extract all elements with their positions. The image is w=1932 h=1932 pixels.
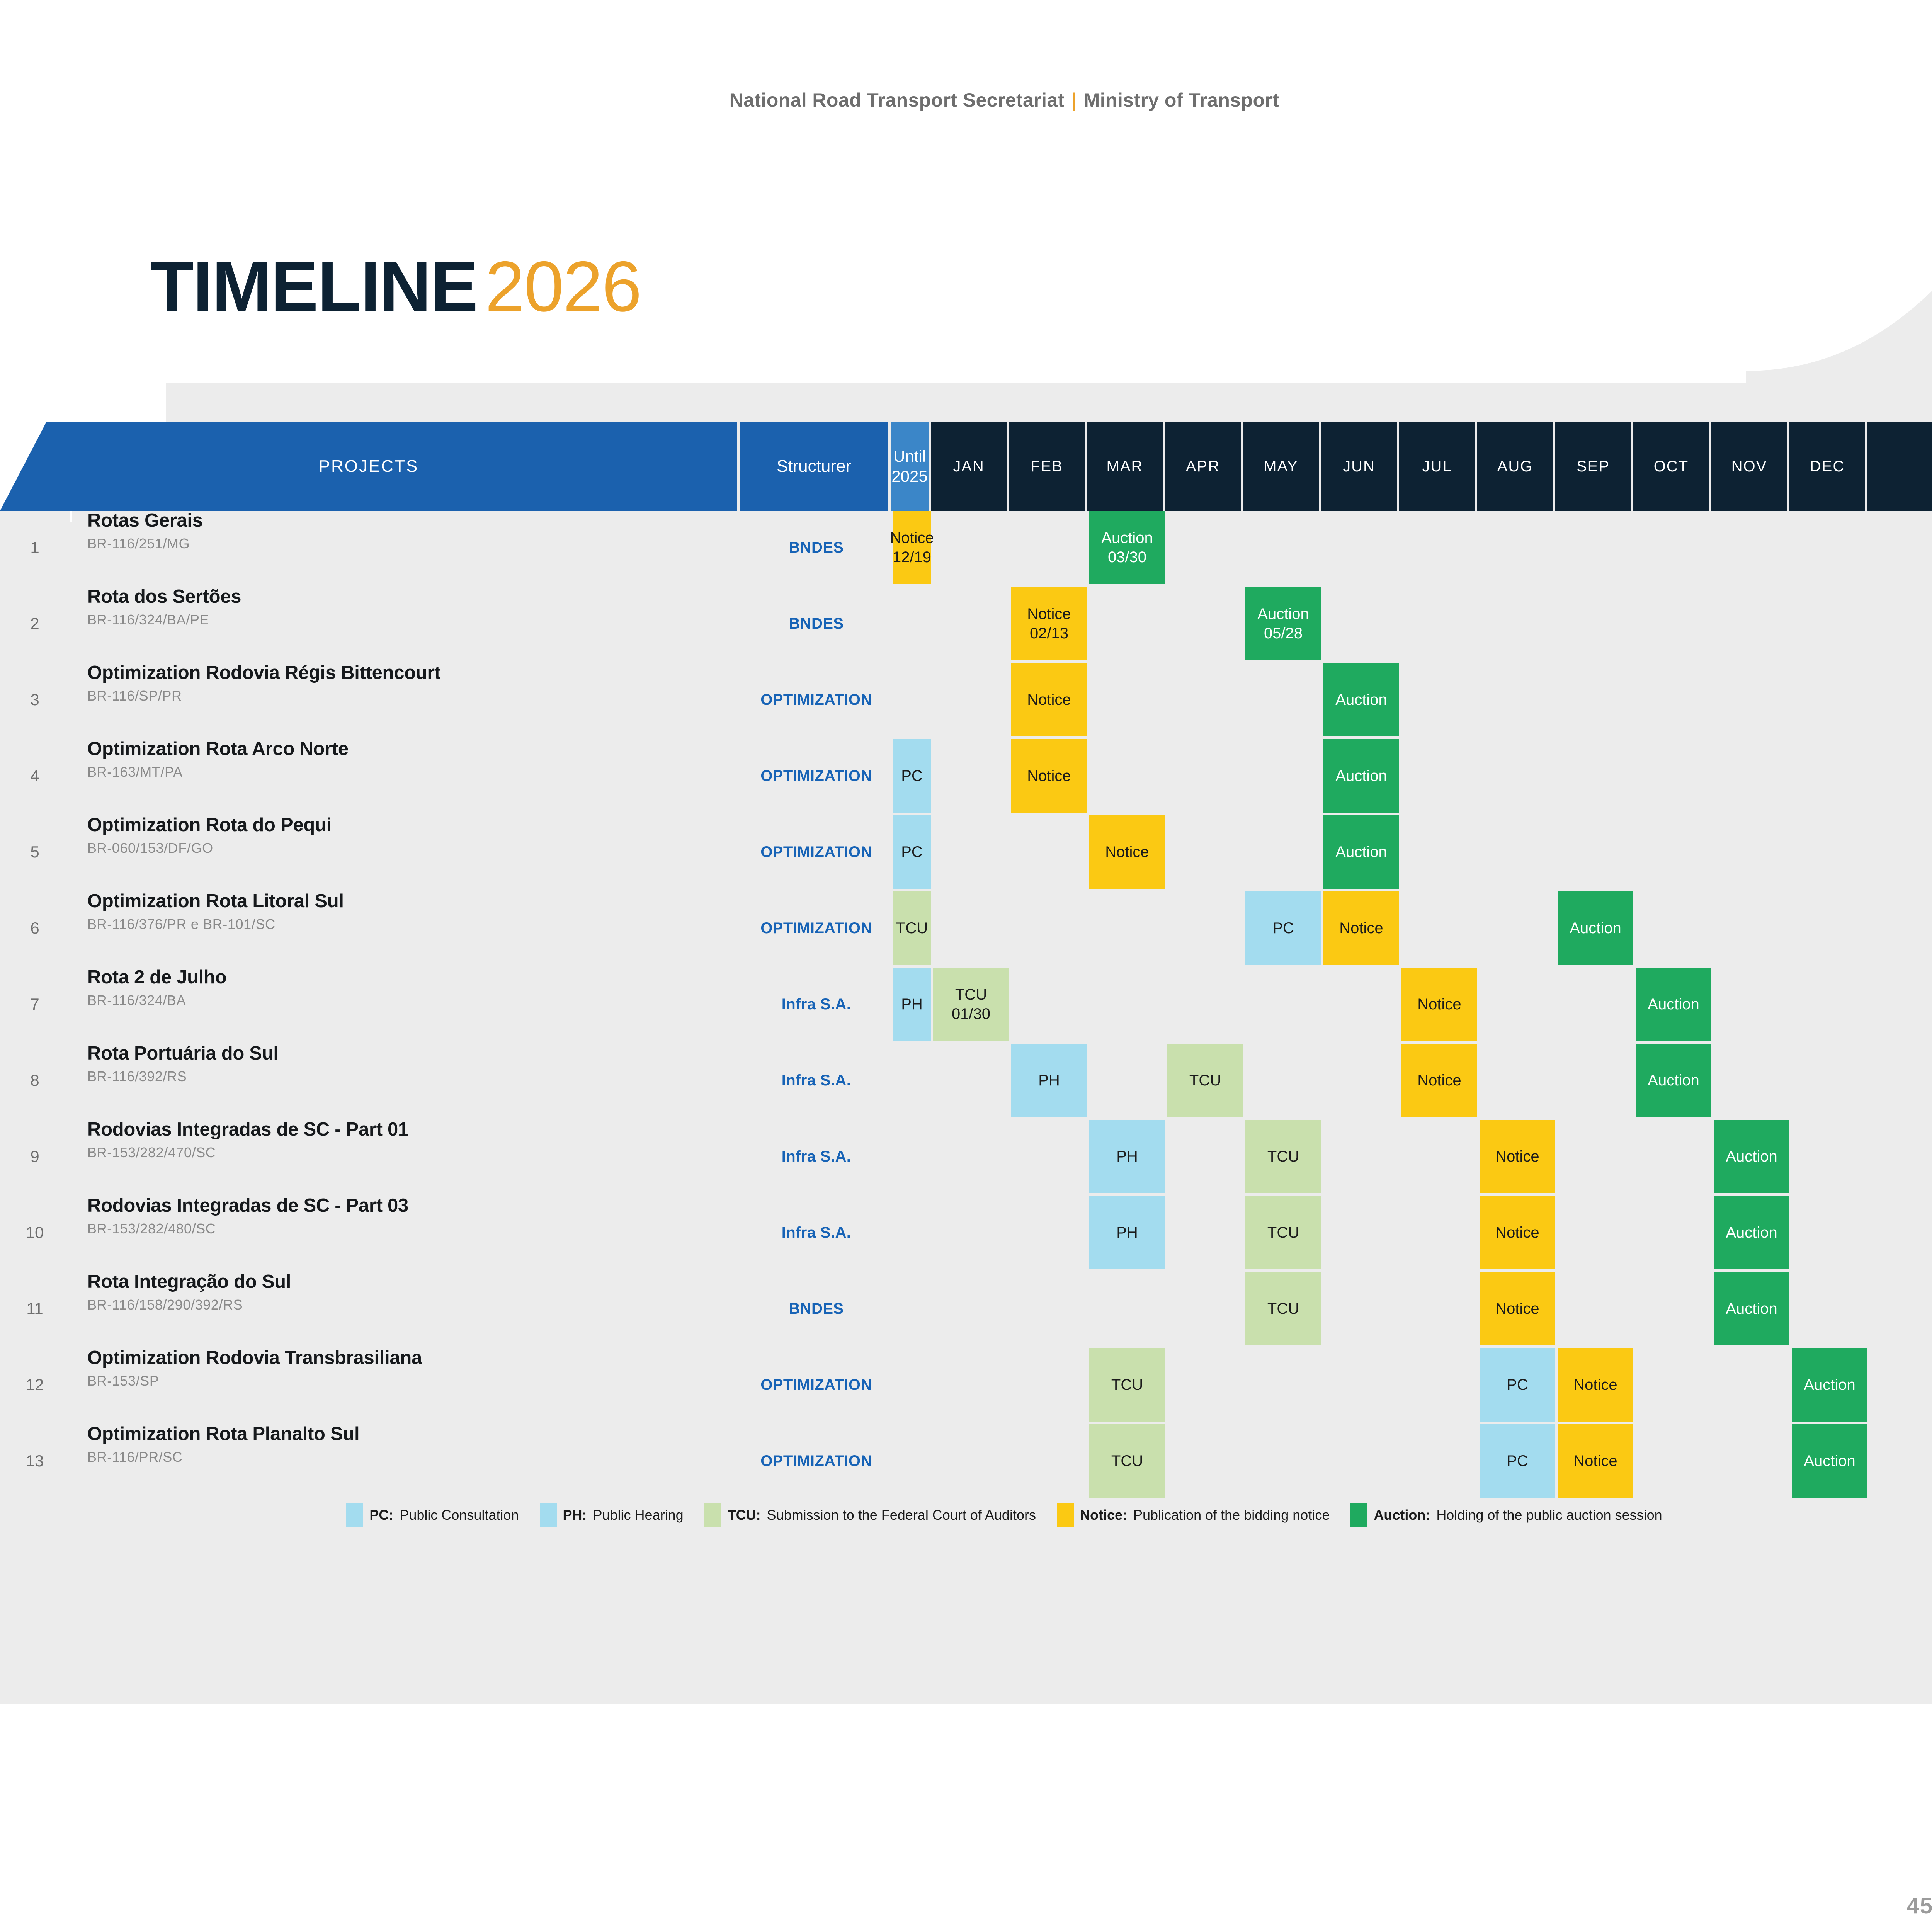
cell-apr-empty[interactable] xyxy=(1167,1196,1243,1269)
milestone-notice[interactable]: Notice xyxy=(1480,1272,1555,1345)
cell-aug-empty[interactable] xyxy=(1480,891,1555,965)
structurer-cell: OPTIMIZATION xyxy=(742,739,891,813)
table-row[interactable]: 4Optimization Rota Arco NorteBR-163/MT/P… xyxy=(0,739,1932,813)
milestone-label: PH xyxy=(1116,1223,1138,1242)
kicker-right-text: Ministry of Transport xyxy=(1084,89,1279,111)
legend-swatch-icon xyxy=(1057,1503,1074,1527)
row-index: 12 xyxy=(0,1348,70,1422)
cell-mar-empty[interactable] xyxy=(1089,587,1165,660)
project-code: BR-116/376/PR e BR-101/SC xyxy=(87,915,276,933)
cell-nov-empty[interactable] xyxy=(1714,663,1789,736)
table-row[interactable]: 8Rota Portuária do SulBR-116/392/RSInfra… xyxy=(0,1044,1932,1117)
milestone-auction[interactable]: Auction xyxy=(1558,891,1633,965)
project-cell[interactable]: Rotas GeraisBR-116/251/MG xyxy=(72,511,740,584)
cell-jun-empty[interactable] xyxy=(1323,1044,1399,1117)
cell-nov-empty[interactable] xyxy=(1714,1044,1789,1117)
cell-mar-empty[interactable] xyxy=(1089,1272,1165,1345)
row-index: 6 xyxy=(0,891,70,965)
milestone-notice[interactable]: Notice xyxy=(1480,1196,1555,1269)
milestone-label: Auction xyxy=(1726,1223,1777,1242)
cell-may-empty[interactable] xyxy=(1245,1044,1321,1117)
milestone-label: Notice xyxy=(1105,842,1149,862)
cell-aug-empty[interactable] xyxy=(1480,663,1555,736)
cell-jun-empty[interactable] xyxy=(1323,511,1399,584)
milestone-auction[interactable]: Auction xyxy=(1636,1044,1711,1117)
cell-may-empty[interactable] xyxy=(1245,663,1321,736)
column-header-month-feb: FEB xyxy=(1009,422,1085,511)
project-cell[interactable]: Optimization Rota Litoral SulBR-116/376/… xyxy=(72,891,740,965)
cell-apr-empty[interactable] xyxy=(1167,587,1243,660)
cell-jan-empty[interactable] xyxy=(933,1044,1009,1117)
cell-aug-empty[interactable] xyxy=(1480,968,1555,1041)
cell-jan-empty[interactable] xyxy=(933,587,1009,660)
cell-nov-empty[interactable] xyxy=(1714,1348,1789,1422)
project-code: BR-116/SP/PR xyxy=(87,687,182,704)
cell-jul-empty[interactable] xyxy=(1401,815,1477,889)
cell-apr-empty[interactable] xyxy=(1167,511,1243,584)
milestone-label: PC xyxy=(1507,1451,1528,1471)
milestone-label: TCU xyxy=(1267,1147,1299,1166)
cell-sep-empty[interactable] xyxy=(1558,1272,1633,1345)
milestone-auction[interactable]: Auction xyxy=(1323,663,1399,736)
cell-jan-empty[interactable] xyxy=(933,1120,1009,1193)
project-code: BR-153/282/480/SC xyxy=(87,1220,216,1237)
column-header-projects: PROJECTS xyxy=(0,422,737,511)
cell-feb-empty[interactable] xyxy=(1011,891,1087,965)
project-cell[interactable]: Rota Integração do SulBR-116/158/290/392… xyxy=(72,1272,740,1345)
page-title: TIMELINE2026 xyxy=(150,251,641,323)
row-index: 4 xyxy=(0,739,70,813)
structurer-cell: OPTIMIZATION xyxy=(742,815,891,889)
row-index: 5 xyxy=(0,815,70,889)
milestone-auction[interactable]: Auction xyxy=(1714,1196,1789,1269)
cell-feb-empty[interactable] xyxy=(1011,511,1087,584)
table-row[interactable]: 7Rota 2 de JulhoBR-116/324/BAInfra S.A.P… xyxy=(0,968,1932,1041)
milestone-auction[interactable]: Auction xyxy=(1714,1272,1789,1345)
milestone-label: Notice xyxy=(1417,1071,1461,1090)
legend-swatch-icon xyxy=(346,1503,363,1527)
cell-sep-empty[interactable] xyxy=(1558,739,1633,813)
milestone-auction[interactable]: Auction xyxy=(1792,1348,1867,1422)
cell-dec-empty[interactable] xyxy=(1792,1272,1867,1345)
milestone-label: Auction xyxy=(1335,766,1387,786)
table-row[interactable]: 6Optimization Rota Litoral SulBR-116/376… xyxy=(0,891,1932,965)
milestone-label: Notice xyxy=(890,528,934,548)
milestone-label: Notice xyxy=(1027,766,1071,786)
cell-overflow xyxy=(1870,511,1932,584)
kicker-separator: | xyxy=(1070,89,1078,111)
column-header-month-sep: SEP xyxy=(1555,422,1631,511)
project-cell[interactable]: Rodovias Integradas de SC - Part 01BR-15… xyxy=(72,1120,740,1193)
cell-dec-empty[interactable] xyxy=(1792,1196,1867,1269)
project-name: Optimization Rodovia Transbrasiliana xyxy=(87,1348,422,1368)
legend-item: PC: Public Consultation xyxy=(346,1503,519,1527)
cell-feb-empty[interactable] xyxy=(1011,1120,1087,1193)
cell-oct-empty[interactable] xyxy=(1636,663,1711,736)
cell-dec-empty[interactable] xyxy=(1792,739,1867,813)
milestone-auction[interactable]: Auction xyxy=(1323,815,1399,889)
milestone-notice[interactable]: Notice xyxy=(1401,1044,1477,1117)
milestone-auction[interactable]: Auction xyxy=(1323,739,1399,813)
project-code: BR-153/282/470/SC xyxy=(87,1144,216,1161)
milestone-tcu[interactable]: TCU xyxy=(893,891,931,965)
milestone-ph[interactable]: PH xyxy=(1011,1044,1087,1117)
project-cell[interactable]: Rota Portuária do SulBR-116/392/RS xyxy=(72,1044,740,1117)
milestone-notice[interactable]: Notice xyxy=(1558,1424,1633,1498)
cell-oct-empty[interactable] xyxy=(1636,1120,1711,1193)
column-header-month-jul: JUL xyxy=(1399,422,1475,511)
row-index: 11 xyxy=(0,1272,70,1345)
cell-jul-empty[interactable] xyxy=(1401,511,1477,584)
cell-dec-empty[interactable] xyxy=(1792,1044,1867,1117)
structurer-cell: OPTIMIZATION xyxy=(742,891,891,965)
cell-feb-empty[interactable] xyxy=(1011,968,1087,1041)
table-row[interactable]: 9Rodovias Integradas de SC - Part 01BR-1… xyxy=(0,1120,1932,1193)
cell-sep-empty[interactable] xyxy=(1558,587,1633,660)
project-code: BR-153/SP xyxy=(87,1372,159,1389)
milestone-tcu[interactable]: TCU01/30 xyxy=(933,968,1009,1041)
milestone-label: Auction xyxy=(1648,1071,1699,1090)
cell-overflow xyxy=(1870,891,1932,965)
legend-key: Auction: xyxy=(1374,1507,1430,1523)
milestone-pc[interactable]: PC xyxy=(1480,1424,1555,1498)
cell-apr-empty[interactable] xyxy=(1167,1120,1243,1193)
cell-mar-empty[interactable] xyxy=(1089,739,1165,813)
cell-jan-empty[interactable] xyxy=(933,739,1009,813)
cell-overflow xyxy=(1870,968,1932,1041)
project-cell[interactable]: Optimization Rota do PequiBR-060/153/DF/… xyxy=(72,815,740,889)
cell-may-empty[interactable] xyxy=(1245,1348,1321,1422)
cell-feb-empty[interactable] xyxy=(1011,815,1087,889)
cell-overflow xyxy=(1870,739,1932,813)
cell-dec-empty[interactable] xyxy=(1792,587,1867,660)
milestone-pc[interactable]: PC xyxy=(893,739,931,813)
column-header-month-jan: JAN xyxy=(931,422,1007,511)
cell-may-empty[interactable] xyxy=(1245,968,1321,1041)
cell-apr-empty[interactable] xyxy=(1167,663,1243,736)
cell-sep-empty[interactable] xyxy=(1558,968,1633,1041)
legend-item: PH: Public Hearing xyxy=(540,1503,684,1527)
column-header-month-aug: AUG xyxy=(1477,422,1553,511)
cell-sep-empty[interactable] xyxy=(1558,511,1633,584)
milestone-label: Auction xyxy=(1335,690,1387,709)
structurer-cell: BNDES xyxy=(742,587,891,660)
cell-aug-empty[interactable] xyxy=(1480,1044,1555,1117)
milestone-notice[interactable]: Notice xyxy=(1323,891,1399,965)
cell-jul-empty[interactable] xyxy=(1401,587,1477,660)
milestone-label: Auction xyxy=(1726,1147,1777,1166)
milestone-pc[interactable]: PC xyxy=(1245,891,1321,965)
cell-feb-empty[interactable] xyxy=(1011,1196,1087,1269)
cell-jun-empty[interactable] xyxy=(1323,968,1399,1041)
milestone-notice[interactable]: Notice xyxy=(1089,815,1165,889)
project-code: BR-116/PR/SC xyxy=(87,1448,183,1466)
legend-key: PC: xyxy=(369,1507,393,1523)
cell-overflow xyxy=(1870,1120,1932,1193)
cell-oct-empty[interactable] xyxy=(1636,587,1711,660)
milestone-label: PH xyxy=(901,995,923,1014)
cell-sep-empty[interactable] xyxy=(1558,1044,1633,1117)
cell-nov-empty[interactable] xyxy=(1714,739,1789,813)
milestone-tcu[interactable]: TCU xyxy=(1245,1272,1321,1345)
project-cell[interactable]: Rota dos SertõesBR-116/324/BA/PE xyxy=(72,587,740,660)
milestone-notice[interactable]: Notice02/13 xyxy=(1011,587,1087,660)
cell-sep-empty[interactable] xyxy=(1558,1196,1633,1269)
cell-until-2025-empty[interactable] xyxy=(893,1120,931,1193)
milestone-label: Auction xyxy=(1335,842,1387,862)
cell-jan-empty[interactable] xyxy=(933,891,1009,965)
row-index: 8 xyxy=(0,1044,70,1117)
cell-nov-empty[interactable] xyxy=(1714,587,1789,660)
table-row[interactable]: 1Rotas GeraisBR-116/251/MGBNDESNotice12/… xyxy=(0,511,1932,584)
column-header-month-apr: APR xyxy=(1165,422,1241,511)
row-index: 7 xyxy=(0,968,70,1041)
milestone-ph[interactable]: PH xyxy=(1089,1196,1165,1269)
timeline-table: PROJECTS Structurer Until 2025 JANFEBMAR… xyxy=(0,422,1932,1500)
table-row[interactable]: 5Optimization Rota do PequiBR-060/153/DF… xyxy=(0,815,1932,889)
cell-aug-empty[interactable] xyxy=(1480,815,1555,889)
milestone-label: Auction xyxy=(1257,604,1309,624)
project-cell[interactable]: Optimization Rota Planalto SulBR-116/PR/… xyxy=(72,1424,740,1498)
milestone-notice[interactable]: Notice xyxy=(1401,968,1477,1041)
project-name: Rota Integração do Sul xyxy=(87,1272,291,1292)
milestone-label: Notice xyxy=(1339,918,1383,938)
milestone-tcu[interactable]: TCU xyxy=(1245,1196,1321,1269)
cell-until-2025-empty[interactable] xyxy=(893,663,931,736)
milestone-label: Notice xyxy=(1495,1147,1539,1166)
legend-swatch-icon xyxy=(1350,1503,1367,1527)
project-code: BR-116/392/RS xyxy=(87,1068,187,1085)
cell-mar-empty[interactable] xyxy=(1089,968,1165,1041)
cell-dec-empty[interactable] xyxy=(1792,891,1867,965)
milestone-tcu[interactable]: TCU xyxy=(1089,1348,1165,1422)
legend-description: Holding of the public auction session xyxy=(1436,1507,1662,1523)
milestone-auction[interactable]: Auction xyxy=(1636,968,1711,1041)
milestone-label: TCU xyxy=(1111,1451,1143,1471)
cell-overflow xyxy=(1870,1196,1932,1269)
legend-swatch-icon xyxy=(540,1503,557,1527)
cell-dec-empty[interactable] xyxy=(1792,1120,1867,1193)
table-row[interactable]: 2Rota dos SertõesBR-116/324/BA/PEBNDESNo… xyxy=(0,587,1932,660)
cell-oct-empty[interactable] xyxy=(1636,739,1711,813)
cell-jul-empty[interactable] xyxy=(1401,739,1477,813)
column-header-until-2025: Until 2025 xyxy=(891,422,929,511)
milestone-notice[interactable]: Notice xyxy=(1480,1120,1555,1193)
legend-swatch-icon xyxy=(704,1503,721,1527)
row-index: 9 xyxy=(0,1120,70,1193)
project-name: Rotas Gerais xyxy=(87,511,203,531)
row-index: 10 xyxy=(0,1196,70,1269)
cell-jun-empty[interactable] xyxy=(1323,1120,1399,1193)
cell-sep-empty[interactable] xyxy=(1558,815,1633,889)
cell-until-2025-empty[interactable] xyxy=(893,587,931,660)
table-row[interactable]: 11Rota Integração do SulBR-116/158/290/3… xyxy=(0,1272,1932,1345)
project-cell[interactable]: Optimization Rodovia TransbrasilianaBR-1… xyxy=(72,1348,740,1422)
project-code: BR-116/324/BA xyxy=(87,992,186,1009)
milestone-tcu[interactable]: TCU xyxy=(1245,1120,1321,1193)
page-title-main: TIMELINE xyxy=(150,247,477,327)
structurer-cell: Infra S.A. xyxy=(742,1120,891,1193)
project-name: Rota Portuária do Sul xyxy=(87,1044,279,1063)
milestone-notice[interactable]: Notice xyxy=(1011,739,1087,813)
legend-key: Notice: xyxy=(1080,1507,1127,1523)
corner-curve-decoration xyxy=(1746,216,1932,386)
milestone-date: 12/19 xyxy=(890,548,934,567)
project-cell[interactable]: Optimization Rota Arco NorteBR-163/MT/PA xyxy=(72,739,740,813)
cell-jan-empty[interactable] xyxy=(933,1196,1009,1269)
project-name: Optimization Rota Arco Norte xyxy=(87,739,349,759)
cell-jan-empty[interactable] xyxy=(933,815,1009,889)
milestone-tcu[interactable]: TCU xyxy=(1167,1044,1243,1117)
cell-may-empty[interactable] xyxy=(1245,739,1321,813)
cell-nov-empty[interactable] xyxy=(1714,511,1789,584)
cell-jun-empty[interactable] xyxy=(1323,1424,1399,1498)
cell-jan-empty[interactable] xyxy=(933,1348,1009,1422)
row-index: 3 xyxy=(0,663,70,736)
milestone-label: Notice xyxy=(1027,604,1071,624)
milestone-label: Notice xyxy=(1495,1299,1539,1318)
cell-jan-empty[interactable] xyxy=(933,511,1009,584)
cell-jul-empty[interactable] xyxy=(1401,1120,1477,1193)
cell-oct-empty[interactable] xyxy=(1636,1196,1711,1269)
milestone-label: PH xyxy=(1116,1147,1138,1166)
milestone-pc[interactable]: PC xyxy=(893,815,931,889)
cell-mar-empty[interactable] xyxy=(1089,1044,1165,1117)
cell-jan-empty[interactable] xyxy=(933,1272,1009,1345)
milestone-label: PC xyxy=(1507,1375,1528,1395)
cell-apr-empty[interactable] xyxy=(1167,1424,1243,1498)
cell-until-2025-empty[interactable] xyxy=(893,1272,931,1345)
cell-apr-empty[interactable] xyxy=(1167,1272,1243,1345)
project-cell[interactable]: Rota 2 de JulhoBR-116/324/BA xyxy=(72,968,740,1041)
cell-apr-empty[interactable] xyxy=(1167,815,1243,889)
milestone-label: PC xyxy=(901,842,923,862)
cell-jun-empty[interactable] xyxy=(1323,1272,1399,1345)
milestone-notice[interactable]: Notice xyxy=(1011,663,1087,736)
milestone-tcu[interactable]: TCU xyxy=(1089,1424,1165,1498)
cell-jul-empty[interactable] xyxy=(1401,891,1477,965)
cell-nov-empty[interactable] xyxy=(1714,968,1789,1041)
cell-mar-empty[interactable] xyxy=(1089,663,1165,736)
cell-jun-empty[interactable] xyxy=(1323,1196,1399,1269)
cell-may-empty[interactable] xyxy=(1245,511,1321,584)
milestone-date: 02/13 xyxy=(1027,624,1071,643)
cell-aug-empty[interactable] xyxy=(1480,511,1555,584)
table-row[interactable]: 13Optimization Rota Planalto SulBR-116/P… xyxy=(0,1424,1932,1498)
table-body: 1Rotas GeraisBR-116/251/MGBNDESNotice12/… xyxy=(0,511,1932,1498)
cell-apr-empty[interactable] xyxy=(1167,968,1243,1041)
cell-jan-empty[interactable] xyxy=(933,663,1009,736)
structurer-cell: Infra S.A. xyxy=(742,1044,891,1117)
milestone-date: 01/30 xyxy=(952,1004,990,1024)
cell-jan-empty[interactable] xyxy=(933,1424,1009,1498)
cell-may-empty[interactable] xyxy=(1245,1424,1321,1498)
cell-sep-empty[interactable] xyxy=(1558,1120,1633,1193)
milestone-label: Notice xyxy=(1417,995,1461,1014)
cell-until-2025-empty[interactable] xyxy=(893,1196,931,1269)
table-row[interactable]: 12Optimization Rodovia TransbrasilianaBR… xyxy=(0,1348,1932,1422)
milestone-auction[interactable]: Auction03/30 xyxy=(1089,511,1165,584)
table-row[interactable]: 3Optimization Rodovia Régis BittencourtB… xyxy=(0,663,1932,736)
cell-dec-empty[interactable] xyxy=(1792,968,1867,1041)
cell-aug-empty[interactable] xyxy=(1480,739,1555,813)
cell-nov-empty[interactable] xyxy=(1714,891,1789,965)
cell-feb-empty[interactable] xyxy=(1011,1348,1087,1422)
cell-jul-empty[interactable] xyxy=(1401,1348,1477,1422)
milestone-notice[interactable]: Notice xyxy=(1558,1348,1633,1422)
project-cell[interactable]: Rodovias Integradas de SC - Part 03BR-15… xyxy=(72,1196,740,1269)
cell-oct-empty[interactable] xyxy=(1636,511,1711,584)
cell-jun-empty[interactable] xyxy=(1323,1348,1399,1422)
milestone-label: TCU xyxy=(1189,1071,1221,1090)
cell-oct-empty[interactable] xyxy=(1636,815,1711,889)
milestone-ph[interactable]: PH xyxy=(1089,1120,1165,1193)
milestone-auction[interactable]: Auction05/28 xyxy=(1245,587,1321,660)
project-code: BR-163/MT/PA xyxy=(87,763,183,781)
cell-jul-empty[interactable] xyxy=(1401,1272,1477,1345)
cell-jun-empty[interactable] xyxy=(1323,587,1399,660)
project-name: Rota 2 de Julho xyxy=(87,968,226,987)
milestone-label: Notice xyxy=(1495,1223,1539,1242)
cell-apr-empty[interactable] xyxy=(1167,1348,1243,1422)
cell-dec-empty[interactable] xyxy=(1792,663,1867,736)
cell-dec-empty[interactable] xyxy=(1792,815,1867,889)
milestone-label: Auction xyxy=(1804,1375,1855,1395)
cell-dec-empty[interactable] xyxy=(1792,511,1867,584)
milestone-date: 05/28 xyxy=(1257,624,1309,643)
cell-until-2025-empty[interactable] xyxy=(893,1044,931,1117)
cell-until-2025-empty[interactable] xyxy=(893,1348,931,1422)
page-number: 45 xyxy=(1906,1893,1932,1919)
project-code: BR-116/324/BA/PE xyxy=(87,611,209,628)
cell-jul-empty[interactable] xyxy=(1401,1196,1477,1269)
structurer-cell: BNDES xyxy=(742,511,891,584)
legend-description: Public Consultation xyxy=(400,1507,519,1523)
cell-may-empty[interactable] xyxy=(1245,815,1321,889)
milestone-auction[interactable]: Auction xyxy=(1792,1424,1867,1498)
table-row[interactable]: 10Rodovias Integradas de SC - Part 03BR-… xyxy=(0,1196,1932,1269)
milestone-label: Auction xyxy=(1804,1451,1855,1471)
cell-overflow xyxy=(1870,587,1932,660)
legend-description: Public Hearing xyxy=(593,1507,684,1523)
milestone-label: Auction xyxy=(1726,1299,1777,1318)
project-cell[interactable]: Optimization Rodovia Régis BittencourtBR… xyxy=(72,663,740,736)
cell-jul-empty[interactable] xyxy=(1401,663,1477,736)
cell-mar-empty[interactable] xyxy=(1089,891,1165,965)
milestone-pc[interactable]: PC xyxy=(1480,1348,1555,1422)
cell-oct-empty[interactable] xyxy=(1636,1424,1711,1498)
cell-nov-empty[interactable] xyxy=(1714,1424,1789,1498)
structurer-cell: Infra S.A. xyxy=(742,968,891,1041)
cell-apr-empty[interactable] xyxy=(1167,891,1243,965)
milestone-notice[interactable]: Notice12/19 xyxy=(893,511,931,584)
cell-sep-empty[interactable] xyxy=(1558,663,1633,736)
cell-feb-empty[interactable] xyxy=(1011,1272,1087,1345)
cell-oct-empty[interactable] xyxy=(1636,891,1711,965)
milestone-ph[interactable]: PH xyxy=(893,968,931,1041)
legend-item: TCU: Submission to the Federal Court of … xyxy=(704,1503,1036,1527)
cell-feb-empty[interactable] xyxy=(1011,1424,1087,1498)
cell-jul-empty[interactable] xyxy=(1401,1424,1477,1498)
cell-oct-empty[interactable] xyxy=(1636,1348,1711,1422)
milestone-auction[interactable]: Auction xyxy=(1714,1120,1789,1193)
project-code: BR-060/153/DF/GO xyxy=(87,839,213,857)
cell-until-2025-empty[interactable] xyxy=(893,1424,931,1498)
cell-apr-empty[interactable] xyxy=(1167,739,1243,813)
cell-aug-empty[interactable] xyxy=(1480,587,1555,660)
cell-nov-empty[interactable] xyxy=(1714,815,1789,889)
cell-oct-empty[interactable] xyxy=(1636,1272,1711,1345)
